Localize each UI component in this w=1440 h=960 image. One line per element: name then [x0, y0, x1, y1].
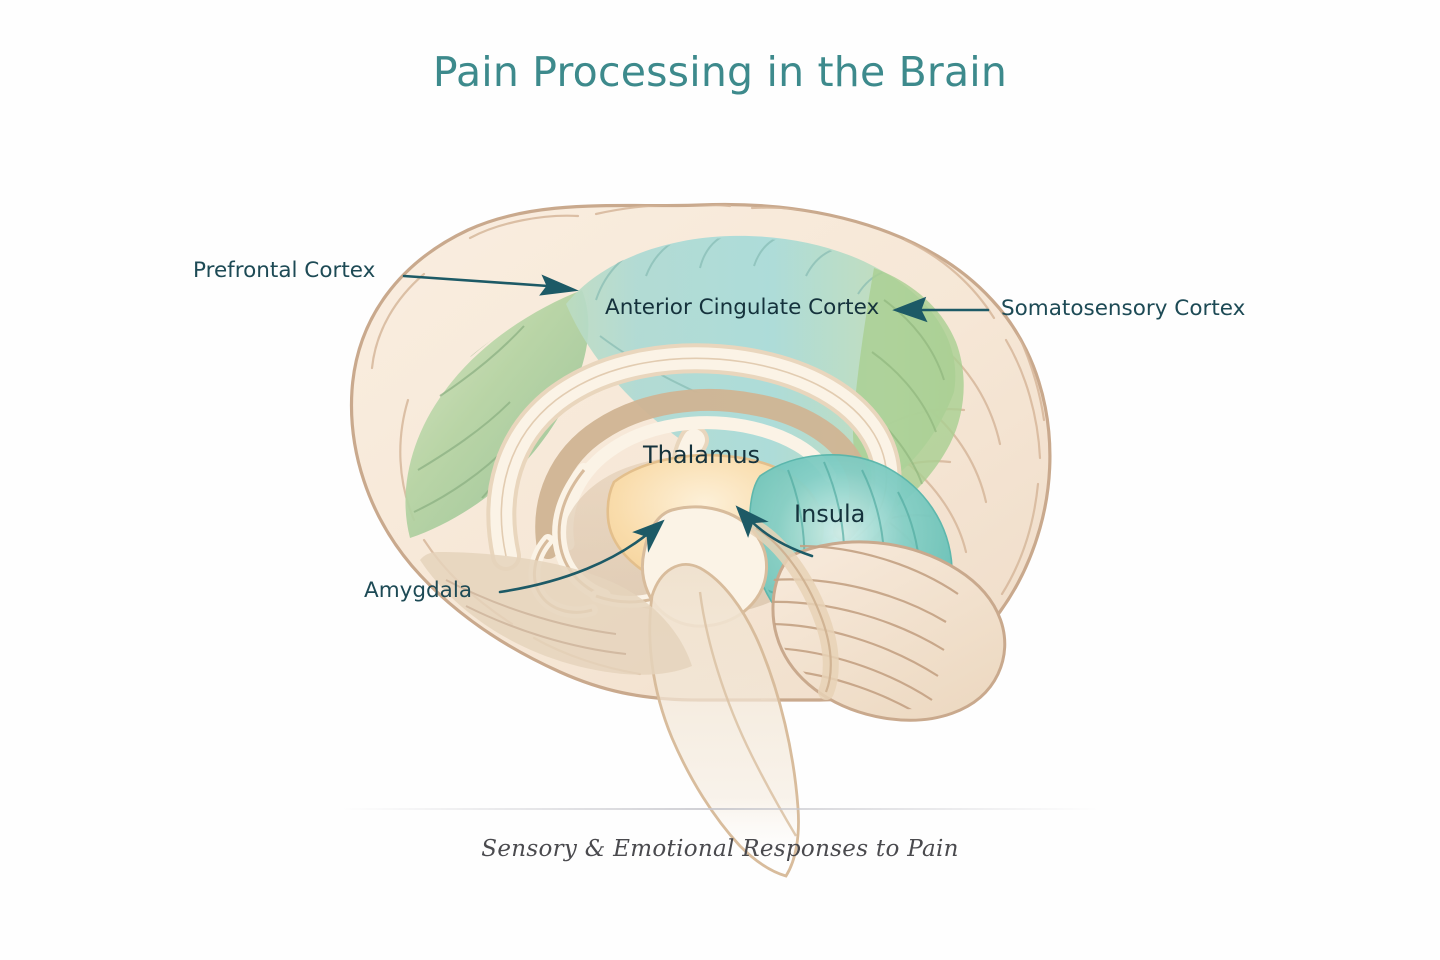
footer-divider	[340, 808, 1100, 810]
label-insula: Insula	[794, 500, 865, 528]
figure-caption: Sensory & Emotional Responses to Pain	[0, 836, 1440, 862]
label-somatosensory-cortex: Somatosensory Cortex	[1001, 296, 1245, 321]
label-thalamus: Thalamus	[643, 441, 760, 469]
label-amygdala: Amygdala	[364, 578, 472, 603]
diagram-canvas: Pain Processing in the Brain	[0, 0, 1440, 960]
label-anterior-cingulate-cortex: Anterior Cingulate Cortex	[605, 295, 879, 320]
label-prefrontal-cortex: Prefrontal Cortex	[193, 258, 375, 283]
brain-illustration	[0, 0, 1440, 960]
